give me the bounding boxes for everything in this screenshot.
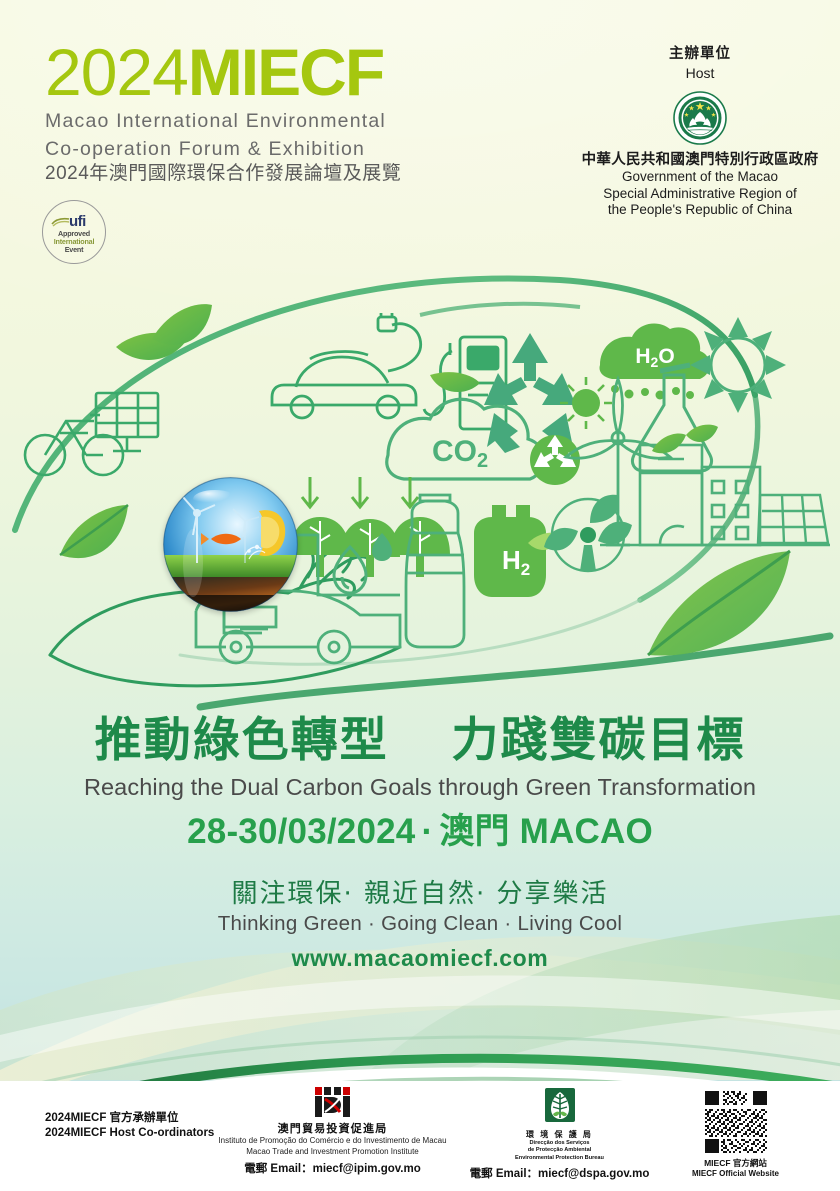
event-city-chinese: 澳門 xyxy=(439,812,509,851)
slogan-chinese-part2: 力踐雙碳目標 xyxy=(451,713,745,768)
ufi-line-event: Event xyxy=(43,245,105,254)
dspa-email[interactable]: 電郵 Email：miecf@dspa.gov.mo xyxy=(442,1167,677,1182)
hydrogen-tank-icon: H2 xyxy=(474,505,562,597)
qr-caption-chinese: MIECF 官方網站 xyxy=(678,1158,793,1169)
poster-footer: 2024MIECF 官方承辦單位 2024MIECF Host Co-ordin… xyxy=(0,1081,840,1191)
event-date: 28-30/03/2024 xyxy=(187,812,415,851)
recycle-badge-icon xyxy=(530,435,580,485)
ipim-name-portuguese: Instituto de Promoção do Comércio e do I… xyxy=(200,1136,465,1147)
co2-label: CO2 xyxy=(432,435,488,472)
host-coordinators-chinese: 2024MIECF 官方承辦單位 xyxy=(45,1111,214,1126)
slogan-english: Reaching the Dual Carbon Goals through G… xyxy=(0,772,840,802)
host-coordinators-english: 2024MIECF Host Co-ordinators xyxy=(45,1126,214,1141)
miecf-logo: 2024MIECF Macao International Environmen… xyxy=(45,38,401,186)
dspa-logo-icon xyxy=(543,1087,577,1127)
leaf-pair-icon xyxy=(116,304,212,360)
government-name-chinese: 中華人民共和國澳門特別行政區政府 xyxy=(575,151,825,169)
website-url[interactable]: www.macaomiecf.com xyxy=(0,944,840,972)
dspa-block: 環 境 保 護 局 Direcção dos Serviços de Prote… xyxy=(442,1087,677,1182)
government-name-english-line3: the People's Republic of China xyxy=(575,202,825,219)
eco-illustration: H2O xyxy=(0,255,840,725)
eco-icon-cluster: H2O xyxy=(0,255,840,725)
logo-subtitle-line1: Macao International Environmental xyxy=(45,110,401,134)
globe-illustration xyxy=(163,477,298,612)
dspa-name-portuguese-line1: Direcção dos Serviços xyxy=(442,1140,677,1147)
ipim-email[interactable]: 電郵 Email：miecf@ipim.gov.mo xyxy=(200,1162,465,1177)
ufi-swoosh-icon xyxy=(51,217,71,227)
slogan-chinese-part1: 推動綠色轉型 xyxy=(95,713,389,768)
miecf-website-qr-code-icon[interactable] xyxy=(703,1089,769,1155)
fern-leaf-left-icon xyxy=(60,505,128,558)
electric-car-icon xyxy=(272,313,421,418)
dspa-name-english: Environmental Protection Bureau xyxy=(442,1155,677,1162)
solar-panel-small-icon xyxy=(758,495,828,543)
qr-block: MIECF 官方網站 MIECF Official Website xyxy=(678,1089,793,1179)
ipim-name-chinese: 澳門貿易投資促進局 xyxy=(200,1122,465,1136)
date-separator: · xyxy=(421,812,433,851)
sun-rays-icon xyxy=(690,317,786,413)
tagline-english: Thinking Green · Going Clean · Living Co… xyxy=(0,911,840,937)
poster-canvas: 2024MIECF Macao International Environmen… xyxy=(0,0,840,1191)
event-city-english: MACAO xyxy=(520,812,653,851)
dspa-name-chinese: 環 境 保 護 局 xyxy=(442,1129,677,1140)
qr-caption-english: MIECF Official Website xyxy=(678,1169,793,1179)
slogan-chinese: 推動綠色轉型 力踐雙碳目標 xyxy=(0,712,840,770)
ipim-block: 澳門貿易投資促進局 Instituto de Promoção do Comér… xyxy=(200,1085,465,1177)
host-label-english: Host xyxy=(575,64,825,83)
logo-wordmark: 2024MIECF xyxy=(45,38,401,106)
host-coordinators-label: 2024MIECF 官方承辦單位 2024MIECF Host Co-ordin… xyxy=(45,1111,214,1141)
macao-sar-emblem-icon xyxy=(673,91,727,145)
logo-year: 2024 xyxy=(45,35,188,109)
dspa-name-portuguese-line2: de Protecção Ambiental xyxy=(442,1147,677,1154)
logo-subtitle-line2: Co-operation Forum & Exhibition xyxy=(45,138,401,162)
ipim-logo-icon xyxy=(312,1085,354,1119)
poster-header: 2024MIECF Macao International Environmen… xyxy=(0,0,840,270)
host-label-chinese: 主辦單位 xyxy=(575,45,825,64)
tagline-chinese: 關注環保· 親近自然· 分享樂活 xyxy=(0,878,840,910)
logo-subtitle-chinese: 2024年澳門國際環保合作發展論壇及展覽 xyxy=(45,162,401,186)
fern-leaf-icon xyxy=(648,551,790,656)
ufi-wordmark: ufi xyxy=(69,213,86,230)
event-date-line: 28-30/03/2024·澳門 MACAO xyxy=(0,810,840,854)
sun-dot-icon xyxy=(560,377,612,429)
charging-leaf-icon xyxy=(430,372,480,392)
slogan-block: 推動綠色轉型 力踐雙碳目標 Reaching the Dual Carbon G… xyxy=(0,712,840,972)
host-organisation-block: 主辦單位 Host 中華人民共和國澳 xyxy=(575,45,825,219)
earth-globe-photo xyxy=(163,477,298,612)
ipim-name-english: Macao Trade and Investment Promotion Ins… xyxy=(200,1147,465,1158)
logo-acronym: MIECF xyxy=(188,35,383,109)
government-name-english-line2: Special Administrative Region of xyxy=(575,186,825,203)
government-name-english-line1: Government of the Macao xyxy=(575,169,825,186)
